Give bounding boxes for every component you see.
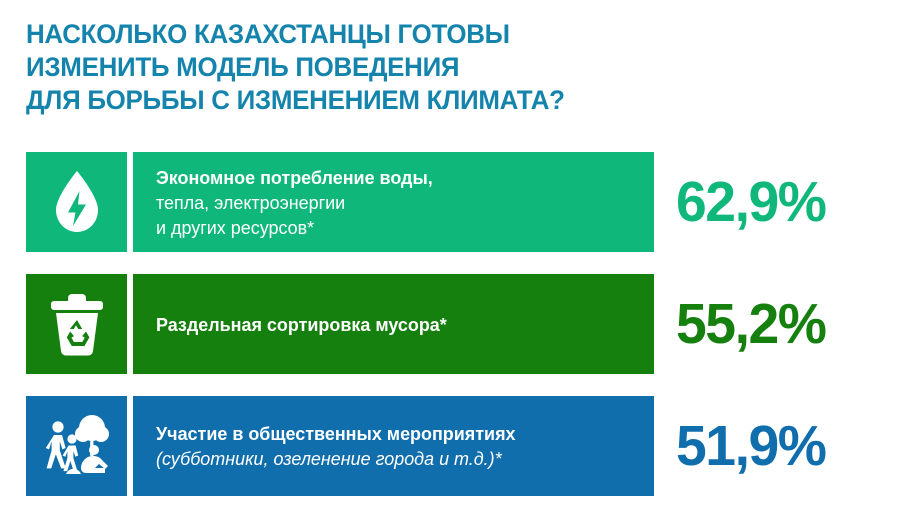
stat-row: Раздельная сортировка мусора* 55,2% [0, 274, 900, 374]
row-label-line: Экономное потребление воды, [156, 165, 639, 190]
row-value: 51,9% [676, 418, 826, 475]
row-value-box: 55,2% [654, 274, 900, 374]
row-icon-box [26, 152, 127, 252]
row-icon-box [26, 274, 127, 374]
row-label-line: тепла, электроэнергии [156, 190, 639, 215]
tree-planting-people-icon [44, 414, 110, 478]
stat-row: Участие в общественных мероприятиях (суб… [0, 396, 900, 496]
title-line-3: ДЛЯ БОРЬБЫ С ИЗМЕНЕНИЕМ КЛИМАТА? [26, 84, 756, 117]
row-label-line: (субботники, озеленение города и т.д.)* [156, 446, 639, 471]
water-drop-energy-icon [51, 169, 103, 235]
row-label-line: Участие в общественных мероприятиях [156, 421, 639, 446]
row-label-box: Участие в общественных мероприятиях (суб… [133, 396, 654, 496]
recycle-bin-icon [48, 292, 106, 356]
infographic-root: НАСКОЛЬКО КАЗАХСТАНЦЫ ГОТОВЫ ИЗМЕНИТЬ МО… [0, 0, 900, 521]
row-value-box: 62,9% [654, 152, 900, 252]
stat-row: Экономное потребление воды, тепла, элект… [0, 152, 900, 252]
title-line-2: ИЗМЕНИТЬ МОДЕЛЬ ПОВЕДЕНИЯ [26, 51, 756, 84]
row-icon-box [26, 396, 127, 496]
title-line-1: НАСКОЛЬКО КАЗАХСТАНЦЫ ГОТОВЫ [26, 18, 756, 51]
row-value-box: 51,9% [654, 396, 900, 496]
stat-rows: Экономное потребление воды, тепла, элект… [0, 152, 900, 496]
page-title: НАСКОЛЬКО КАЗАХСТАНЦЫ ГОТОВЫ ИЗМЕНИТЬ МО… [26, 18, 786, 117]
row-value: 62,9% [676, 174, 826, 231]
row-label-line: Раздельная сортировка мусора* [156, 312, 639, 337]
row-label-line: и других ресурсов* [156, 215, 639, 240]
row-label-box: Раздельная сортировка мусора* [133, 274, 654, 374]
row-label-box: Экономное потребление воды, тепла, элект… [133, 152, 654, 252]
row-value: 55,2% [676, 296, 826, 353]
